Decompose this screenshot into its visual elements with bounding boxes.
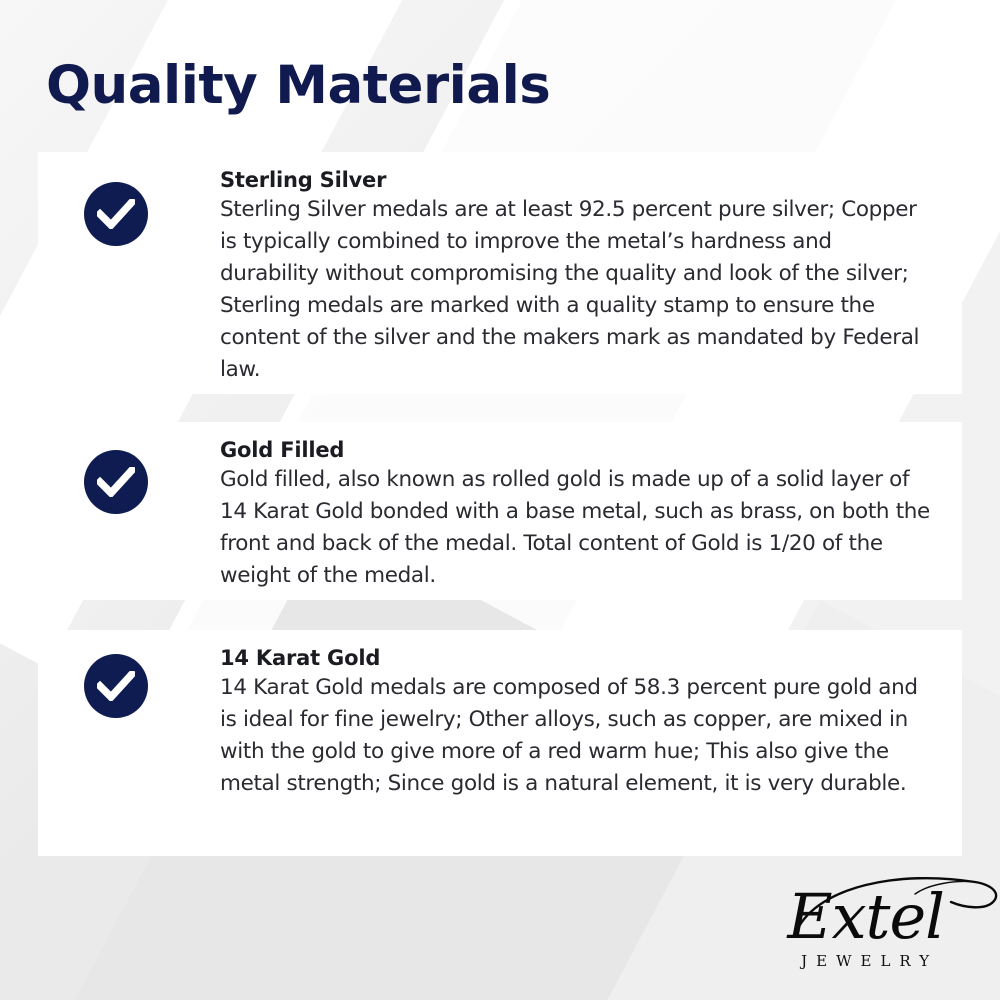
check-circle-icon [84, 182, 148, 246]
check-circle-icon [84, 654, 148, 718]
material-heading: Sterling Silver [220, 168, 930, 192]
material-description: Sterling Silver medals are at least 92.5… [220, 194, 930, 386]
logo-subtitle: JEWELRY [787, 952, 944, 970]
material-description: Gold filled, also known as rolled gold i… [220, 464, 930, 592]
poster-page: Quality Materials Sterling Silver Sterli… [0, 0, 1000, 1000]
material-heading: 14 Karat Gold [220, 646, 930, 670]
material-heading: Gold Filled [220, 438, 930, 462]
logo-wordmark: Extel [787, 886, 944, 948]
page-title: Quality Materials [46, 55, 550, 116]
material-card: Sterling Silver Sterling Silver medals a… [38, 152, 962, 394]
material-description: 14 Karat Gold medals are composed of 58.… [220, 672, 930, 800]
material-card: Gold Filled Gold filled, also known as r… [38, 422, 962, 600]
check-circle-icon [84, 450, 148, 514]
brand-logo: Extel JEWELRY [787, 886, 944, 970]
material-card: 14 Karat Gold 14 Karat Gold medals are c… [38, 630, 962, 856]
